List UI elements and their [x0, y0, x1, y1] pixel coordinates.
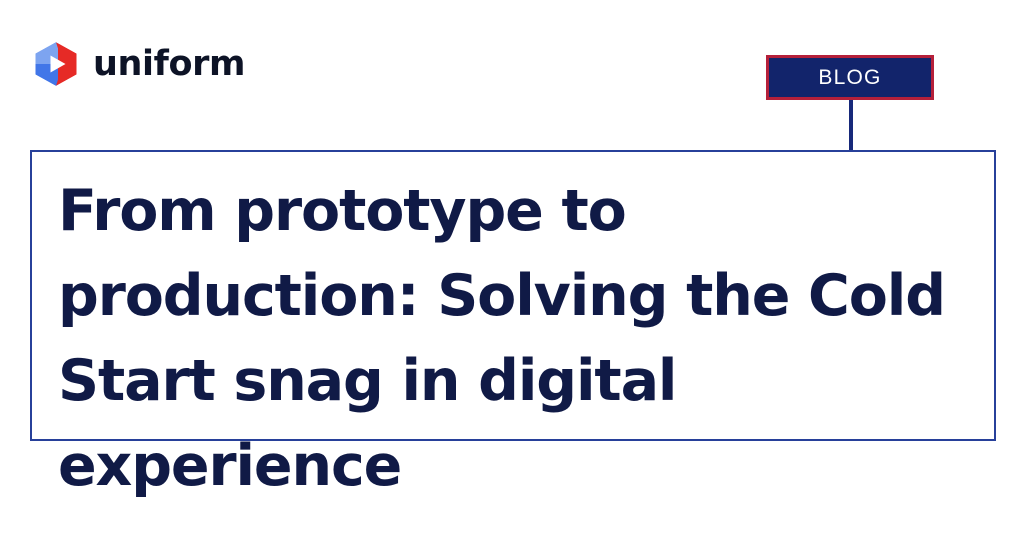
uniform-hexagon-play-logo-icon — [33, 41, 79, 87]
page-title: From prototype to production: Solving th… — [58, 169, 974, 509]
blog-category-badge[interactable]: BLOG — [766, 55, 934, 100]
title-card: From prototype to production: Solving th… — [30, 150, 996, 441]
brand-wordmark: uniform — [93, 47, 245, 82]
blog-badge-label: BLOG — [818, 67, 881, 88]
brand-lockup[interactable]: uniform — [33, 41, 245, 87]
badge-connector-line — [849, 100, 853, 152]
blog-share-card: uniform BLOG From prototype to productio… — [0, 0, 1024, 536]
